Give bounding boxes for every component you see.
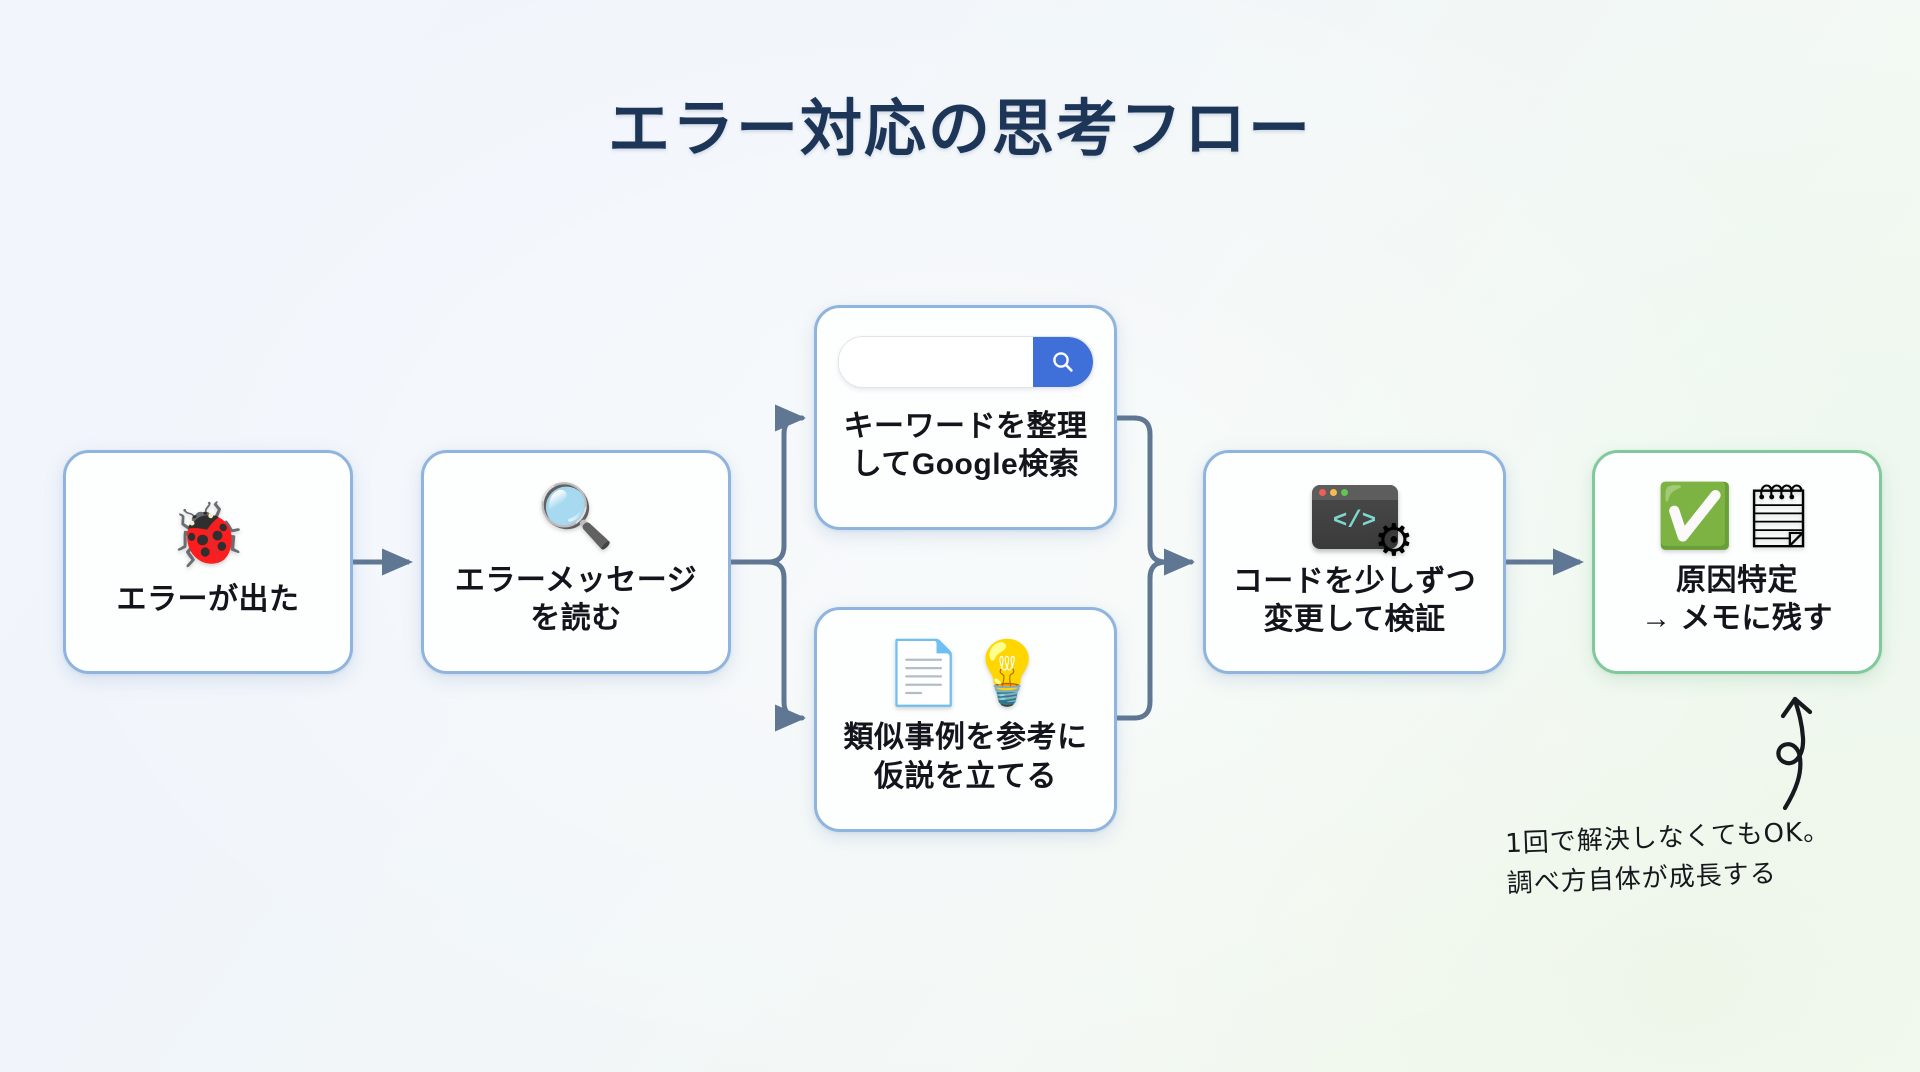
page-icon: 📄 bbox=[885, 643, 962, 705]
node-search-label: キーワードを整理 してGoogle検索 bbox=[844, 408, 1088, 485]
node-result-icons: ✅ 🗒 bbox=[1656, 486, 1818, 548]
connector-hypothesis-to-verify bbox=[1117, 562, 1191, 718]
check-mark-icon: ✅ bbox=[1656, 486, 1733, 548]
connector-read-to-hypothesis bbox=[731, 562, 802, 718]
node-hypothesis-icons: 📄 💡 bbox=[885, 643, 1045, 705]
page-title: エラー対応の思考フロー bbox=[0, 78, 1920, 168]
magnifying-glass-icon: 🔍 bbox=[537, 486, 614, 548]
window-dot-red bbox=[1319, 489, 1326, 496]
flow-node-verify-code[interactable]: </> ⚙ コードを少しずつ 変更して検証 bbox=[1203, 450, 1506, 674]
node-verify-icons: </> ⚙ bbox=[1312, 485, 1398, 549]
search-bar[interactable] bbox=[838, 336, 1094, 388]
flow-node-hypothesis[interactable]: 📄 💡 類似事例を参考に 仮説を立てる bbox=[814, 607, 1117, 832]
node-read-label: エラーメッセージ を読む bbox=[455, 562, 697, 639]
node-error-icons: 🐞 bbox=[169, 505, 246, 567]
node-read-icons: 🔍 bbox=[537, 486, 614, 548]
search-button[interactable] bbox=[1033, 337, 1093, 387]
node-hypothesis-label: 類似事例を参考に 仮説を立てる bbox=[844, 719, 1088, 796]
flow-node-read-error-message[interactable]: 🔍 エラーメッセージ を読む bbox=[421, 450, 731, 674]
code-window-titlebar bbox=[1312, 485, 1398, 500]
lightbulb-icon: 💡 bbox=[969, 643, 1046, 705]
bug-icon: 🐞 bbox=[169, 505, 246, 567]
flow-node-result[interactable]: ✅ 🗒 原因特定 → メモに残す bbox=[1592, 450, 1882, 674]
node-verify-label: コードを少しずつ 変更して検証 bbox=[1233, 563, 1476, 640]
node-error-label: エラーが出た bbox=[117, 581, 300, 619]
code-window-icon: </> ⚙ bbox=[1312, 485, 1398, 549]
curly-up-arrow-icon bbox=[1738, 686, 1848, 812]
window-dot-yellow bbox=[1330, 489, 1337, 496]
search-icon bbox=[1050, 349, 1076, 375]
gear-icon: ⚙ bbox=[1374, 519, 1413, 563]
slide-canvas: エラー対応の思考フロー 🐞 エラーが出た 🔍 エラーメッセージ を読 bbox=[0, 0, 1920, 1072]
flow-node-error[interactable]: 🐞 エラーが出た bbox=[63, 450, 353, 674]
node-result-label: 原因特定 → メモに残す bbox=[1641, 562, 1833, 639]
connector-read-to-search bbox=[731, 418, 802, 562]
window-dot-green bbox=[1341, 489, 1348, 496]
notepad-icon: 🗒 bbox=[1739, 486, 1818, 548]
connector-search-to-verify bbox=[1117, 418, 1191, 562]
handwritten-annotation: 1回で解決しなくてもOK。 調べ方自体が成長する bbox=[1505, 812, 1833, 905]
flow-node-google-search[interactable]: キーワードを整理 してGoogle検索 bbox=[814, 305, 1117, 530]
search-input[interactable] bbox=[839, 337, 1033, 387]
